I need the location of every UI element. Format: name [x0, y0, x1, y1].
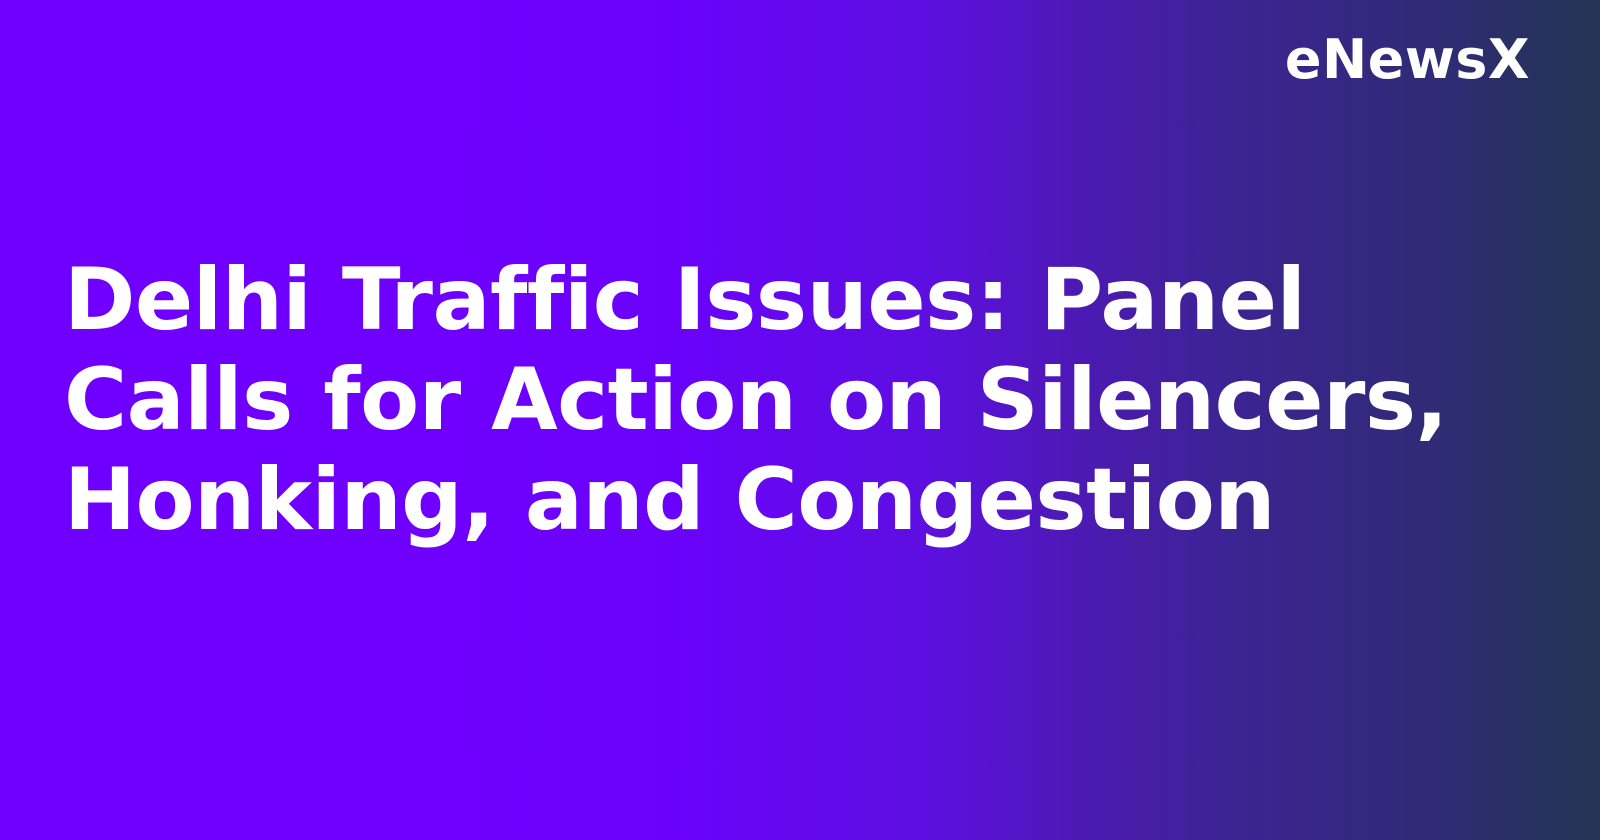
- news-banner: eNewsX Delhi Traffic Issues: Panel Calls…: [0, 0, 1600, 840]
- brand-logo[interactable]: eNewsX: [1285, 30, 1530, 90]
- headline-container: Delhi Traffic Issues: Panel Calls for Ac…: [64, 250, 1484, 550]
- page-title: Delhi Traffic Issues: Panel Calls for Ac…: [64, 250, 1484, 550]
